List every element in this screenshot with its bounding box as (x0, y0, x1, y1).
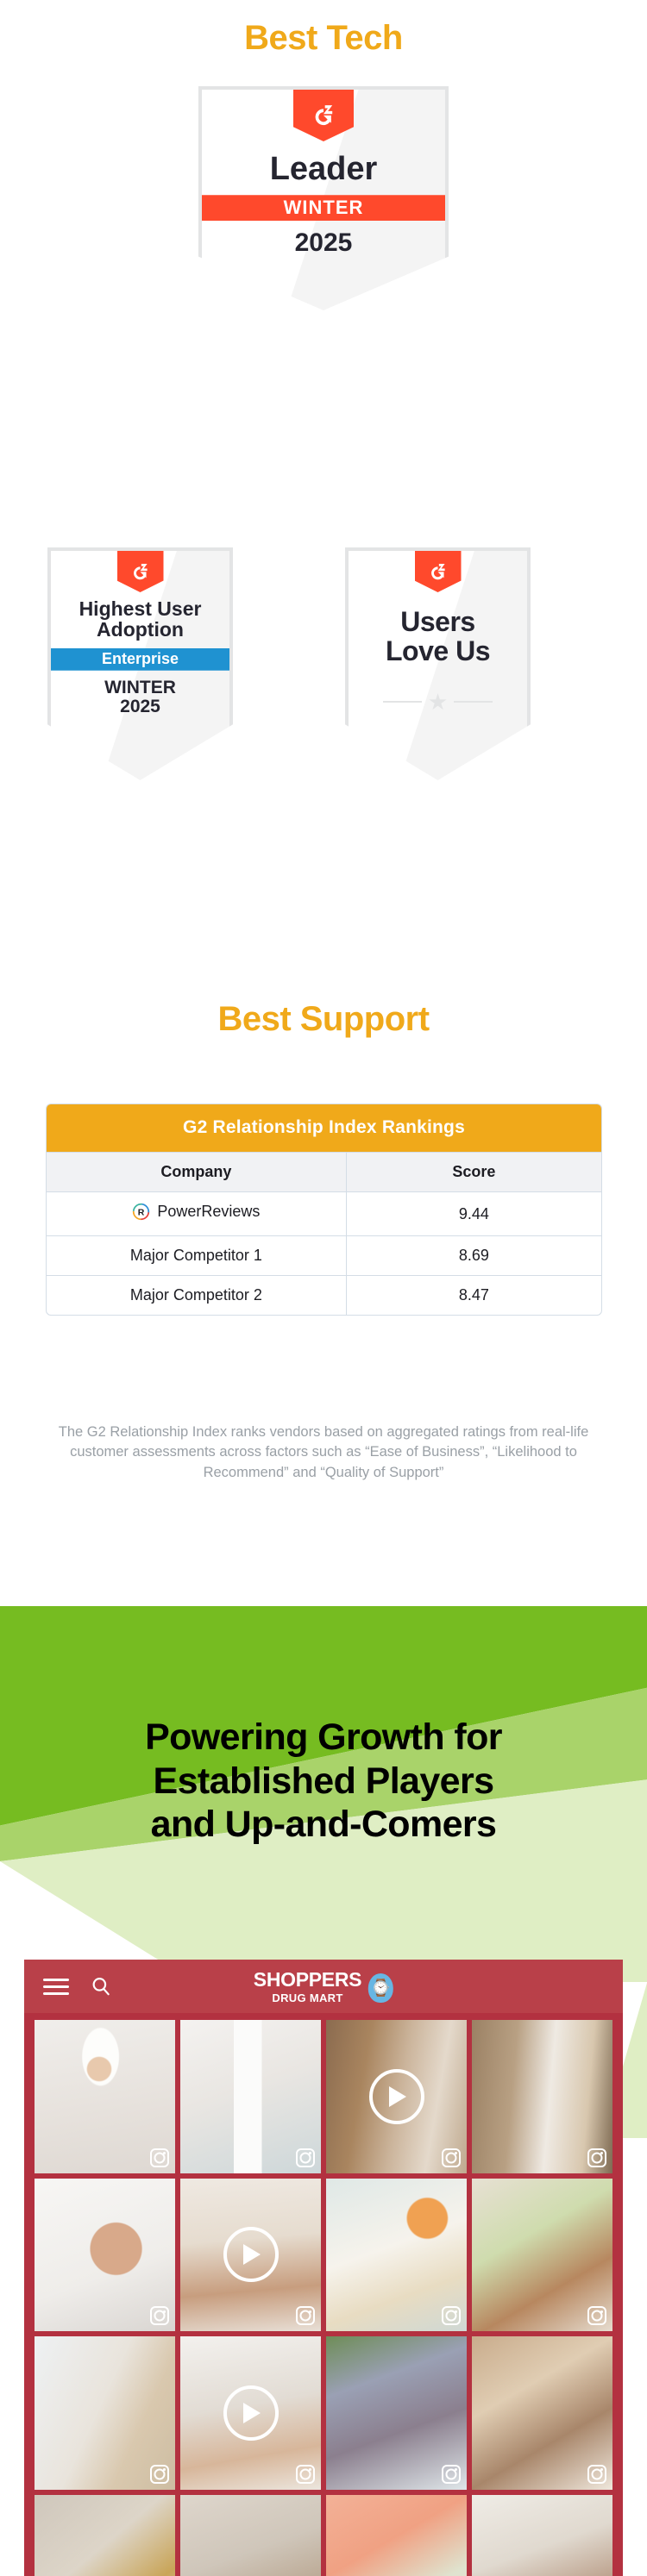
badge-title-line1: Highest User (51, 598, 229, 619)
table-footnote: The G2 Relationship Index ranks vendors … (47, 1422, 600, 1483)
cell-score: 8.47 (346, 1276, 601, 1316)
badge-title-line1: Users (349, 608, 527, 637)
g2-badge-users-love-us: Users Love Us ★ (345, 547, 531, 780)
tile-image (326, 2495, 467, 2576)
instagram-photo-grid (24, 2013, 623, 2576)
g2-logo-icon (117, 551, 164, 592)
star-icon: ★ (428, 691, 448, 713)
pestle-mortar-icon: ⌚ (368, 1973, 393, 2003)
instagram-icon (587, 2148, 606, 2167)
hamburger-menu-icon[interactable] (43, 1974, 69, 1999)
gallery-tile[interactable] (472, 2020, 612, 2173)
badge-band-label: WINTER (198, 195, 449, 221)
badge-band-label: Enterprise (47, 648, 233, 671)
gallery-tile[interactable] (180, 2020, 321, 2173)
instagram-icon (150, 2465, 169, 2484)
cell-company: R PowerReviews (47, 1192, 346, 1236)
table-row: Major Competitor 2 8.47 (47, 1276, 601, 1316)
table-header-row: Company Score (47, 1153, 601, 1192)
table-row: R PowerReviews 9.44 (47, 1192, 601, 1236)
sdm-brand-line1: SHOPPERS (254, 1970, 361, 1990)
play-icon[interactable] (223, 2385, 279, 2441)
badge-year: 2025 (202, 229, 445, 257)
cell-company: Major Competitor 2 (47, 1276, 346, 1316)
badge-title-line2: Love Us (349, 637, 527, 666)
gallery-tile[interactable] (472, 2336, 612, 2490)
badge-shield: Highest User Adoption Enterprise WINTER … (47, 547, 233, 780)
divider-rule-left (383, 701, 422, 703)
instagram-icon (296, 2306, 315, 2325)
badge-season: WINTER (51, 678, 229, 698)
badge-divider: ★ (349, 691, 527, 713)
gallery-tile-video[interactable] (326, 2020, 467, 2173)
hero-heading-line1: Powering Growth for (0, 1716, 647, 1760)
ranking-table: G2 Relationship Index Rankings Company S… (46, 1104, 602, 1316)
table-heading: G2 Relationship Index Rankings (47, 1104, 601, 1152)
gallery-tile[interactable] (35, 2495, 175, 2576)
gallery-tile[interactable] (35, 2179, 175, 2332)
badge-title: Leader (202, 152, 445, 186)
cell-company: Major Competitor 1 (47, 1236, 346, 1276)
gallery-tile[interactable] (180, 2495, 321, 2576)
page-title-best-support: Best Support (0, 1000, 647, 1039)
cell-score: 9.44 (346, 1192, 601, 1236)
gallery-tile[interactable] (326, 2495, 467, 2576)
cell-score: 8.69 (346, 1236, 601, 1276)
gallery-tile-video[interactable] (180, 2336, 321, 2490)
hero-heading-line3: and Up-and-Comers (0, 1803, 647, 1847)
gallery-tile[interactable] (472, 2495, 612, 2576)
gallery-tile[interactable] (326, 2179, 467, 2332)
badge-band: Enterprise (47, 648, 233, 671)
instagram-icon (150, 2148, 169, 2167)
gallery-tile-video[interactable] (180, 2179, 321, 2332)
gallery-tile[interactable] (35, 2336, 175, 2490)
gallery-tile[interactable] (472, 2179, 612, 2332)
badge-season-year: WINTER 2025 (51, 678, 229, 717)
svg-text:R: R (138, 1208, 145, 1218)
hero-heading: Powering Growth for Established Players … (0, 1716, 647, 1847)
sdm-logo[interactable]: SHOPPERS DRUG MART ⌚ (254, 1970, 393, 2004)
instagram-icon (442, 2148, 461, 2167)
instagram-icon (296, 2465, 315, 2484)
instagram-icon (150, 2306, 169, 2325)
badge-shield: Leader WINTER 2025 (198, 86, 449, 310)
instagram-icon (587, 2465, 606, 2484)
column-header-score: Score (346, 1153, 601, 1192)
page-title-best-tech: Best Tech (0, 19, 647, 58)
tile-image (472, 2495, 612, 2576)
company-name: PowerReviews (157, 1203, 260, 1221)
badge-title-line2: Adoption (51, 619, 229, 640)
badge-band: WINTER (198, 195, 449, 221)
badge-title: Users Love Us (349, 608, 527, 666)
instagram-icon (442, 2465, 461, 2484)
instagram-icon (296, 2148, 315, 2167)
shoppers-drug-mart-gallery-widget: SHOPPERS DRUG MART ⌚ (24, 1960, 623, 2576)
play-icon[interactable] (223, 2227, 279, 2282)
play-icon[interactable] (369, 2069, 424, 2124)
g2-logo-icon (415, 551, 462, 592)
sdm-brand-line2: DRUG MART (254, 1992, 361, 2004)
g2-logo-icon (293, 90, 354, 141)
badge-shield: Users Love Us ★ (345, 547, 531, 780)
g2-badge-highest-user-adoption: Highest User Adoption Enterprise WINTER … (47, 547, 233, 780)
sdm-header-bar: SHOPPERS DRUG MART ⌚ (24, 1960, 623, 2013)
search-icon[interactable] (90, 1975, 112, 1998)
table-row: Major Competitor 1 8.69 (47, 1236, 601, 1276)
badge-title: Highest User Adoption (51, 598, 229, 641)
instagram-icon (587, 2306, 606, 2325)
column-header-company: Company (47, 1153, 346, 1192)
g2-badge-leader: Leader WINTER 2025 (198, 86, 449, 310)
instagram-icon (442, 2306, 461, 2325)
badge-year: 2025 (51, 697, 229, 717)
rankings-grid: Company Score R PowerReviews (47, 1152, 601, 1315)
hero-heading-line2: Established Players (0, 1760, 647, 1804)
divider-rule-right (454, 701, 493, 703)
powerreviews-r-icon: R (132, 1203, 150, 1221)
tile-image (35, 2495, 175, 2576)
tile-image (180, 2495, 321, 2576)
gallery-tile[interactable] (326, 2336, 467, 2490)
gallery-tile[interactable] (35, 2020, 175, 2173)
